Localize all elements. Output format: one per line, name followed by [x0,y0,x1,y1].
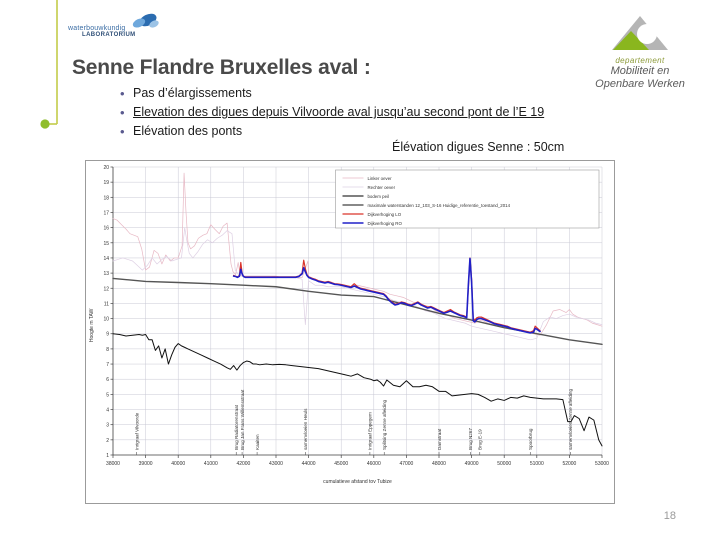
logo-right-departement: departement [580,56,700,65]
y-tick-label: 6 [106,377,109,383]
mow-triangle-icon [609,14,671,54]
bullet-text: Pas d’élargissements [133,86,252,101]
y-tick-label: 2 [106,438,109,444]
water-drops-icon [126,12,166,32]
x-tick-label: 43000 [269,461,283,467]
x-tick-label: 49000 [465,461,479,467]
annotation-label: Inrigraaf Vilvoorde [134,412,139,450]
bullet-text: Elevation des digues depuis Vilvoorde av… [133,105,544,120]
legend-label: Linker oever [367,176,392,181]
x-tick-label: 44000 [302,461,316,467]
x-tick-label: 53000 [595,461,609,467]
bullet-item: •Pas d’élargissements [120,86,640,101]
y-tick-label: 16 [103,226,109,232]
y-tick-label: 12 [103,286,109,292]
annotation-label: Brug Radiatorenstraat [234,404,239,450]
bullet-dot-icon: • [120,105,133,120]
annotation-label: Inrigraaf Eppegem [368,412,373,450]
legend-label: Dijkverhoging LO [367,212,401,217]
bullet-text: Elévation des ponts [133,124,242,139]
y-tick-label: 5 [106,392,109,398]
y-tick-label: 19 [103,180,109,186]
x-tick-label: 47000 [399,461,413,467]
y-tick-label: 8 [106,347,109,353]
slide-number: 18 [664,510,676,522]
x-tick-label: 40000 [171,461,185,467]
x-tick-label: 39000 [139,461,153,467]
y-tick-label: 15 [103,241,109,247]
annotation-label: Splitsing Zenne afleiding [382,400,387,450]
y-tick-label: 7 [106,362,109,368]
y-tick-label: 18 [103,195,109,201]
x-tick-label: 42000 [236,461,250,467]
x-tick-label: 45000 [334,461,348,467]
x-tick-label: 41000 [204,461,218,467]
bullet-item: •Elevation des digues depuis Vilvoorde a… [120,105,640,120]
annotation-label: Spoorbrug [528,428,533,450]
x-tick-label: 51000 [530,461,544,467]
y-tick-label: 13 [103,271,109,277]
y-tick-label: 4 [106,408,109,414]
y-tick-label: 10 [103,317,109,323]
chart-subtitle: Élévation digues Senne : 50cm [392,140,564,154]
bullet-dot-icon: • [120,86,133,101]
chart-container: 1234567891011121314151617181920380003900… [85,160,615,504]
bullet-item: •Elévation des ponts [120,124,640,139]
x-tick-label: 52000 [562,461,576,467]
logo-left-line1: waterbouwkundig [68,25,125,32]
x-axis-label: cumulatieve afstand tov Tubize [323,479,392,485]
annotation-label: samenvloeien Heuls [303,408,308,450]
x-tick-label: 38000 [106,461,120,467]
logo-left-line2: LABORATORIUM [82,32,136,38]
elevation-profile-chart: 1234567891011121314151617181920380003900… [86,161,612,501]
y-tick-label: 1 [106,453,109,459]
series-line [234,258,540,332]
annotation-label: Brug N267 [468,428,473,450]
y-tick-label: 14 [103,256,109,262]
y-axis-label: Hoogte m TAW [89,308,95,342]
bullet-dot-icon: • [120,124,133,139]
y-tick-label: 3 [106,423,109,429]
series-line [113,228,602,340]
y-tick-label: 20 [103,165,109,171]
page-title: Senne Flandre Bruxelles aval : [72,56,371,80]
annotation-label: Brug Jan Frans Willemsstraat [240,389,245,450]
legend-label: Dijkverhoging RO [367,221,402,226]
y-tick-label: 9 [106,332,109,338]
series-line [234,258,540,332]
chart-subtitle-text: Élévation digues Senne : 50cm [392,140,564,154]
x-tick-label: 50000 [497,461,511,467]
bullet-list: •Pas d’élargissements•Elevation des digu… [120,86,640,143]
logo-right-line1: Mobiliteit en [580,65,700,78]
x-tick-label: 48000 [432,461,446,467]
y-tick-label: 17 [103,210,109,216]
y-tick-label: 11 [104,301,109,307]
legend-label: Rechter oever [367,185,395,190]
legend-label: bodem peil [367,194,389,199]
annotation-label: Kaaiten [255,434,260,450]
annotation-label: Brug E-19 [478,429,483,450]
legend-label: maximale waterstanden 12_103_S-16 Huidig… [367,203,510,208]
annotation-label: Damstraat [437,428,442,450]
logo-waterbouwkundig-laboratorium: waterbouwkundig LABORATORIUM [68,12,168,44]
x-tick-label: 46000 [367,461,381,467]
